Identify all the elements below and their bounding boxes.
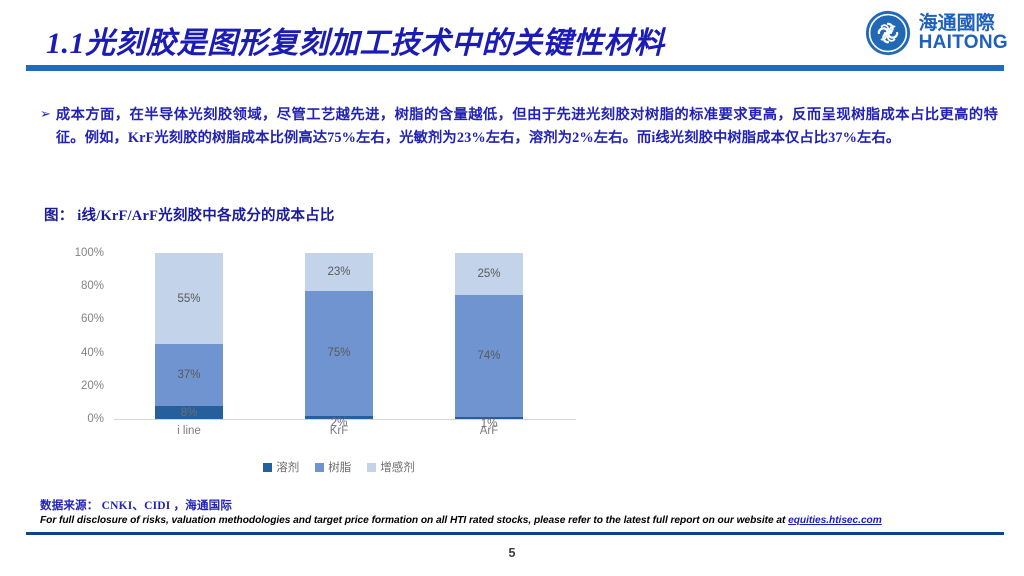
bar-segment[interactable]: 8% [155, 406, 223, 419]
logo-wordmark: 海通國際 HAITONG [919, 14, 1008, 53]
legend-label: 溶剂 [276, 459, 299, 475]
bar-stack-i-line[interactable]: 55%37%8% [155, 253, 223, 419]
bar-segment-label: 74% [477, 350, 500, 362]
legend-swatch [315, 463, 324, 472]
stacked-bar-chart: 100%80%60%40%20%0% 55%37%8%23%75%2%25%74… [44, 247, 589, 495]
bar-segment[interactable]: 1% [455, 417, 523, 419]
bullet-paragraph-row: ➢ 成本方面，在半导体光刻胶领域，尽管工艺越先进，树脂的含量越低，但由于先进光刻… [40, 104, 998, 149]
bar-segment[interactable]: 2% [305, 416, 373, 419]
disclaimer-line: For full disclosure of risks, valuation … [40, 515, 1010, 526]
bar-segment-label: 75% [327, 347, 350, 359]
bar-segment-label: 55% [177, 293, 200, 305]
x-axis-label: i line [124, 425, 254, 437]
figure-title: 图： i线/KrF/ArF光刻胶中各成分的成本占比 [44, 204, 604, 225]
logo-chinese-name: 海通國際 [919, 14, 1008, 33]
legend-item[interactable]: 增感剂 [367, 459, 415, 475]
bar-group: 55%37%8% [124, 253, 254, 419]
bar-segment[interactable]: 74% [455, 295, 523, 418]
bar-group: 23%75%2% [274, 253, 404, 419]
legend-swatch [263, 463, 272, 472]
disclaimer-text: For full disclosure of risks, valuation … [40, 515, 788, 526]
bar-stack-krf[interactable]: 23%75%2% [305, 253, 373, 419]
bar-segment[interactable]: 55% [155, 253, 223, 344]
legend-item[interactable]: 树脂 [315, 459, 351, 475]
bullet-arrow-icon: ➢ [40, 104, 51, 126]
legend-swatch [367, 463, 376, 472]
bar-segment[interactable]: 25% [455, 253, 523, 295]
x-axis-label: KrF [274, 425, 404, 437]
logo-english-name: HAITONG [919, 33, 1008, 52]
y-axis-tick: 20% [81, 380, 104, 392]
bar-segment[interactable]: 37% [155, 344, 223, 405]
chart-plot-area: 55%37%8%23%75%2%25%74%1% [114, 253, 564, 419]
y-axis-tick: 60% [81, 313, 104, 325]
chart-legend: 溶剂树脂增感剂 [114, 459, 564, 475]
page-number: 5 [0, 546, 1024, 560]
bar-segment-label: 37% [177, 369, 200, 381]
bar-stack-arf[interactable]: 25%74%1% [455, 253, 523, 419]
slide-header: 1.1光刻胶是图形复刻加工技术中的关键性材料 海通國際 HAITONG [0, 0, 1024, 78]
haitong-pinwheel-circle-icon [865, 10, 911, 56]
page-title: 1.1光刻胶是图形复刻加工技术中的关键性材料 [46, 18, 665, 62]
bar-segment-label: 25% [477, 268, 500, 280]
title-divider-rule [26, 65, 1004, 71]
chart-y-axis: 100%80%60%40%20%0% [44, 253, 110, 419]
disclaimer-link[interactable]: equities.htisec.com [788, 515, 882, 526]
footer-block: 数据来源： CNKI、CIDI ，海通国际 For full disclosur… [40, 497, 1010, 526]
y-axis-tick: 40% [81, 347, 104, 359]
bar-segment[interactable]: 75% [305, 291, 373, 416]
figure-block: 图： i线/KrF/ArF光刻胶中各成分的成本占比 100%80%60%40%2… [44, 204, 604, 495]
body-section: ➢ 成本方面，在半导体光刻胶领域，尽管工艺越先进，树脂的含量越低，但由于先进光刻… [40, 104, 998, 149]
body-paragraph: 成本方面，在半导体光刻胶领域，尽管工艺越先进，树脂的含量越低，但由于先进光刻胶对… [56, 104, 998, 149]
bar-group: 25%74%1% [424, 253, 554, 419]
legend-label: 增感剂 [380, 459, 415, 475]
footer-divider-rule [26, 532, 1004, 535]
bar-segment-label: 8% [181, 407, 198, 419]
source-line: 数据来源： CNKI、CIDI ，海通国际 [40, 497, 1010, 513]
y-axis-tick: 0% [87, 413, 104, 425]
x-axis-label: ArF [424, 425, 554, 437]
brand-logo: 海通國際 HAITONG [865, 10, 1008, 56]
y-axis-tick: 80% [81, 280, 104, 292]
legend-item[interactable]: 溶剂 [263, 459, 299, 475]
bar-segment-label: 23% [327, 266, 350, 278]
y-axis-tick: 100% [75, 247, 104, 259]
legend-label: 树脂 [328, 459, 351, 475]
bar-segment[interactable]: 23% [305, 253, 373, 291]
